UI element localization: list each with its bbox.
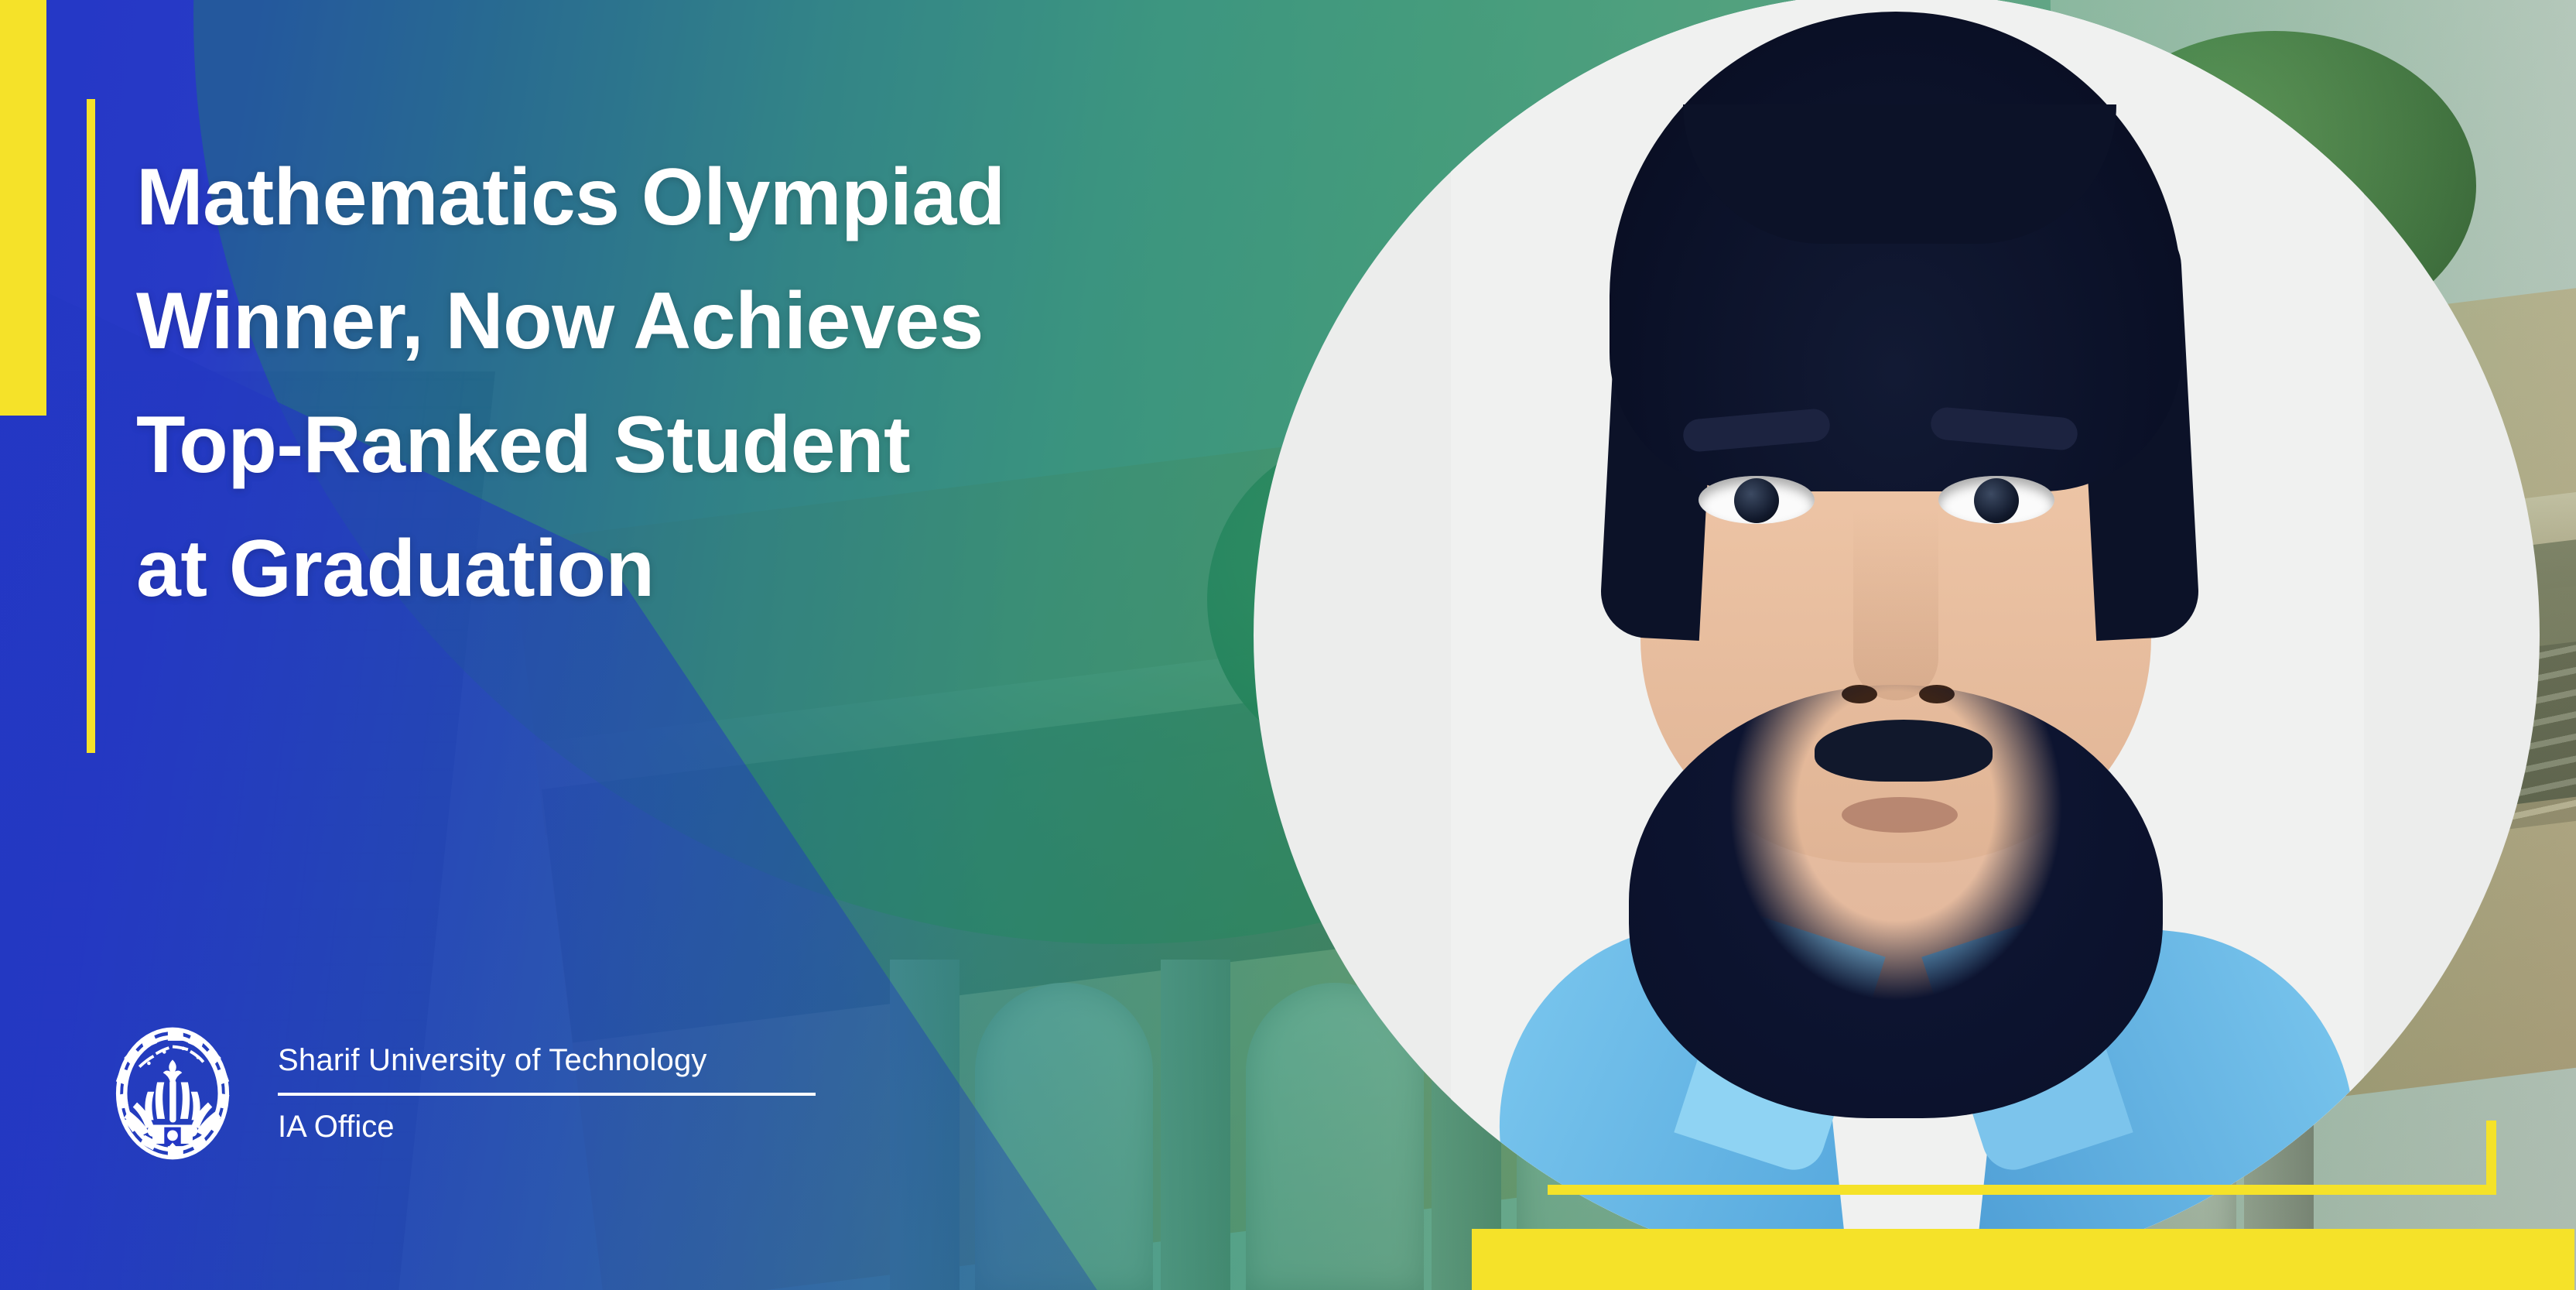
brand-lockup: Sharif University of Technology IA Offic… [104, 1025, 816, 1162]
yellow-underline-vertical [2486, 1121, 2496, 1195]
yellow-underline-horizontal [1548, 1185, 2496, 1195]
organization-name: Sharif University of Technology [278, 1045, 816, 1076]
sharif-university-logo-icon [104, 1025, 241, 1162]
brand-divider [278, 1093, 816, 1096]
portrait-photo [1451, 0, 2364, 1278]
brand-text: Sharif University of Technology IA Offic… [278, 1045, 816, 1142]
headline-line-4: at Graduation [136, 507, 1343, 631]
yellow-accent-rule [87, 99, 95, 753]
portrait-circle [1254, 0, 2540, 1278]
headline: Mathematics Olympiad Winner, Now Achieve… [136, 135, 1343, 631]
yellow-footer-bar [1472, 1229, 2574, 1290]
news-banner: Mathematics Olympiad Winner, Now Achieve… [0, 0, 2576, 1290]
yellow-corner-block [0, 0, 46, 416]
headline-line-1: Mathematics Olympiad [136, 135, 1343, 259]
department-name: IA Office [278, 1111, 816, 1142]
headline-line-3: Top-Ranked Student [136, 383, 1343, 507]
headline-line-2: Winner, Now Achieves [136, 259, 1343, 383]
